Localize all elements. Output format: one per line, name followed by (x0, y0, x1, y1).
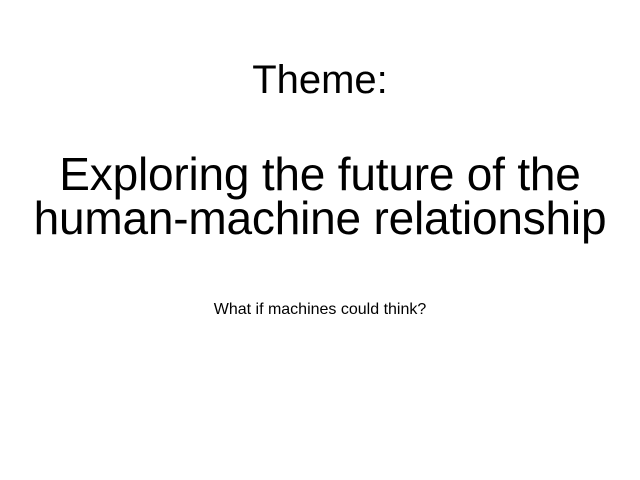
slide-heading-line-1: Exploring the future of the (20, 152, 620, 196)
slide-subtitle: What if machines could think? (0, 300, 640, 320)
slide-title: Theme: (0, 58, 640, 102)
presentation-slide: Theme: Exploring the future of the human… (0, 0, 640, 480)
slide-heading-line-2: human-machine relationship (20, 196, 620, 240)
slide-heading: Exploring the future of the human-machin… (20, 152, 620, 240)
slide-body-empty-area (0, 340, 640, 480)
